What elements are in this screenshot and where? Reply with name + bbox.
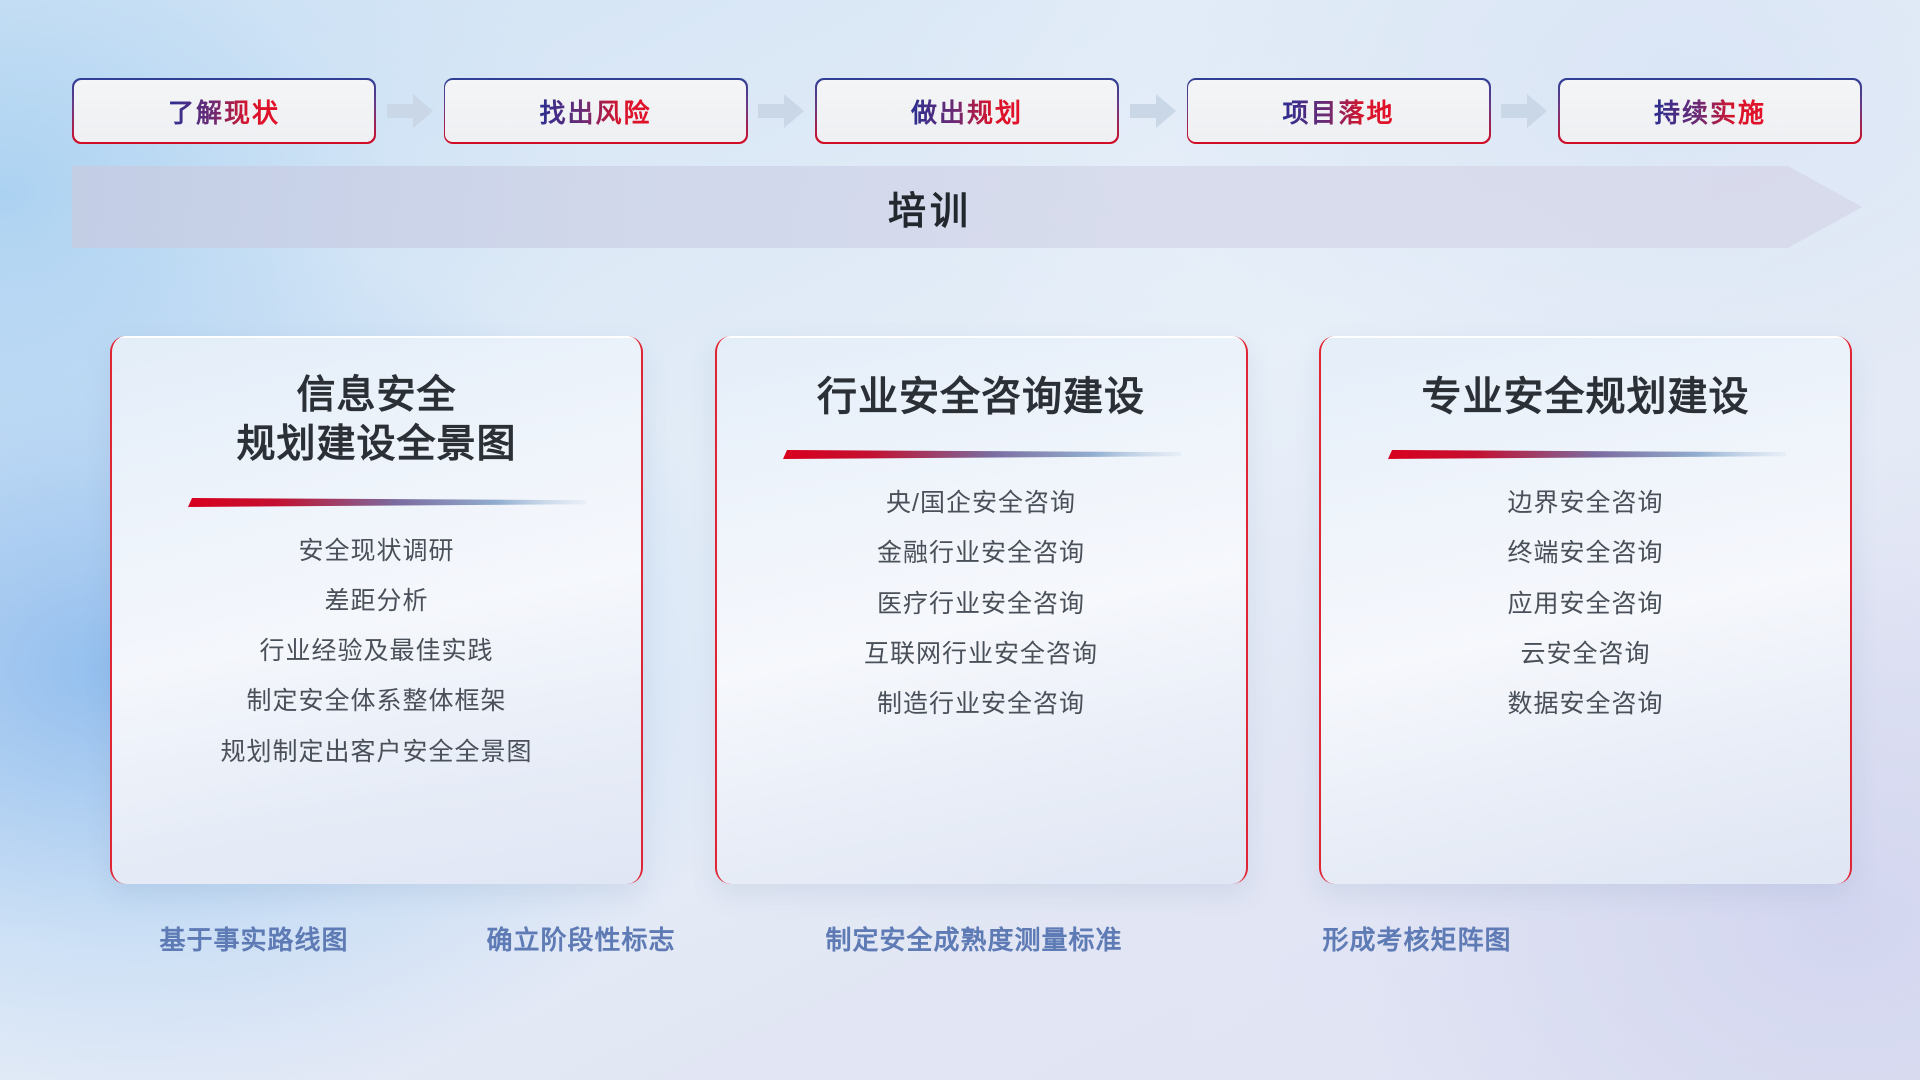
step-box-5-inner: 持续实施 [1560,80,1861,143]
step-box-5[interactable]: 持续实施 [1558,78,1862,144]
card-divider-3 [1386,448,1786,461]
footer-label-2: 确立阶段性标志 [486,920,675,957]
card-divider-2 [781,448,1181,461]
capability-card-3-items: 边界安全咨询 终端安全咨询 应用安全咨询 云安全咨询 数据安全咨询 [1507,483,1663,725]
capability-card-2[interactable]: 行业安全咨询建设 [715,336,1248,884]
process-step-bar: 了解现状 找出风险 做出规划 [72,78,1862,144]
capability-card-2-body: 行业安全咨询建设 [717,336,1246,884]
capability-card-3[interactable]: 专业安全规划建设 [1319,336,1852,884]
step-box-2-inner: 找出风险 [445,80,746,143]
step-box-3-inner: 做出规划 [817,80,1118,143]
footer-label-row: 基于事实路线图 确立阶段性标志 制定安全成熟度测量标准 形成考核矩阵图 [0,920,1920,970]
footer-label-1: 基于事实路线图 [159,920,348,957]
step-box-2[interactable]: 找出风险 [444,78,748,144]
capability-card-1-items: 安全现状调研 差距分析 行业经验及最佳实践 制定安全体系整体框架 规划制定出客户… [220,531,532,773]
step-label-3: 做出规划 [911,93,1023,130]
step-box-1-inner: 了解现状 [74,80,375,143]
footer-label-3: 制定安全成熟度测量标准 [825,920,1122,957]
step-box-4-inner: 项目落地 [1188,80,1489,143]
card-divider-1 [186,496,586,509]
step-label-5: 持续实施 [1654,93,1766,130]
list-item: 数据安全咨询 [1507,684,1663,725]
list-item: 差距分析 [324,581,428,622]
step-arrow-icon-2 [748,91,816,131]
list-item: 金融行业安全咨询 [877,533,1085,574]
capability-card-1-title: 信息安全 规划建设全景图 [236,372,516,470]
list-item: 边界安全咨询 [1507,483,1663,524]
step-arrow-icon-4 [1491,91,1559,131]
list-item: 规划制定出客户安全全景图 [220,732,532,773]
capability-card-1[interactable]: 信息安全 规划建设全景图 [110,336,643,884]
step-box-4[interactable]: 项目落地 [1187,78,1491,144]
capability-card-1-body: 信息安全 规划建设全景图 [112,336,641,884]
step-label-1: 了解现状 [168,93,280,130]
slide-canvas: 了解现状 找出风险 做出规划 [0,0,1920,1080]
capability-card-row: 信息安全 规划建设全景图 [110,336,1852,884]
list-item: 央/国企安全咨询 [886,483,1076,524]
step-box-1[interactable]: 了解现状 [72,78,376,144]
list-item: 终端安全咨询 [1507,533,1663,574]
training-banner: 培训 [72,166,1862,248]
capability-card-3-body: 专业安全规划建设 [1321,336,1850,884]
list-item: 制造行业安全咨询 [877,684,1085,725]
list-item: 行业经验及最佳实践 [259,631,493,672]
list-item: 互联网行业安全咨询 [864,634,1098,675]
capability-card-2-items: 央/国企安全咨询 金融行业安全咨询 医疗行业安全咨询 互联网行业安全咨询 制造行… [864,483,1098,725]
list-item: 应用安全咨询 [1507,584,1663,625]
step-label-2: 找出风险 [539,93,651,130]
capability-card-3-title: 专业安全规划建设 [1422,372,1750,422]
list-item: 云安全咨询 [1520,634,1650,675]
step-arrow-icon-3 [1119,91,1187,131]
step-arrow-icon-1 [376,91,444,131]
list-item: 安全现状调研 [298,531,454,572]
capability-card-2-title: 行业安全咨询建设 [817,372,1145,422]
list-item: 医疗行业安全咨询 [877,584,1085,625]
step-label-4: 项目落地 [1282,93,1394,130]
list-item: 制定安全体系整体框架 [246,681,506,722]
footer-label-4: 形成考核矩阵图 [1322,920,1511,957]
step-box-3[interactable]: 做出规划 [815,78,1119,144]
banner-title: 培训 [72,166,1862,248]
